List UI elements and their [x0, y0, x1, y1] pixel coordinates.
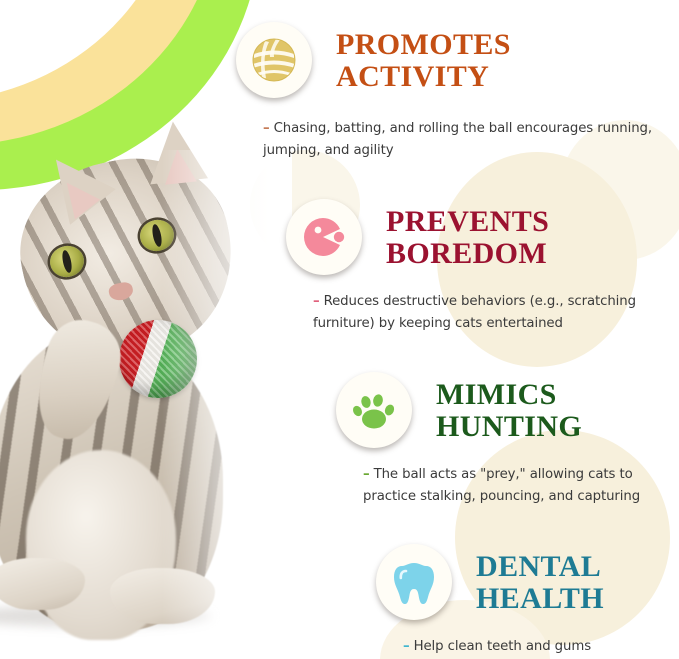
cat-photo-fade: [162, 150, 292, 659]
description-text-1: Chasing, batting, and rolling the ball e…: [263, 121, 652, 158]
description-prevents-boredom: –Reduces destructive behaviors (e.g., sc…: [313, 291, 679, 334]
heading-prevents-boredom: PREVENTS BOREDOM: [386, 206, 549, 270]
arc-inner-mask: [0, 0, 178, 102]
dash-bullet-2: –: [313, 294, 320, 309]
pacman-creature-icon: [286, 199, 362, 275]
heading-promotes-activity: PROMOTES ACTIVITY: [336, 29, 511, 93]
description-text-4: Help clean teeth and gums: [414, 639, 591, 654]
description-dental-health: –Help clean teeth and gums: [403, 636, 679, 658]
dash-bullet-3: –: [363, 467, 370, 482]
heading-dental-health: DENTAL HEALTH: [476, 551, 604, 615]
dash-bullet-4: –: [403, 639, 410, 654]
description-mimics-hunting: –The ball acts as "prey," allowing cats …: [363, 464, 679, 507]
paw-print-icon: [336, 372, 412, 448]
description-promotes-activity: –Chasing, batting, and rolling the ball …: [263, 118, 663, 161]
description-text-3: The ball acts as "prey," allowing cats t…: [363, 467, 640, 504]
tooth-icon: [376, 544, 452, 620]
cat-pupil-left: [61, 249, 74, 273]
heading-mimics-hunting: MIMICS HUNTING: [436, 379, 582, 443]
infographic-page: PROMOTES ACTIVITY –Chasing, batting, and…: [0, 0, 679, 659]
yarn-ball-icon: [236, 22, 312, 98]
description-text-2: Reduces destructive behaviors (e.g., scr…: [313, 294, 636, 331]
dash-bullet-1: –: [263, 121, 270, 136]
cat-photo: [0, 150, 282, 659]
